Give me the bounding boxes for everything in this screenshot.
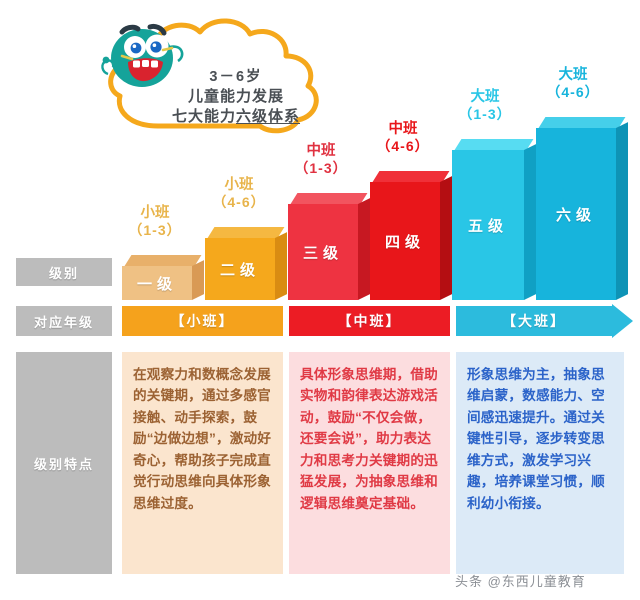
bar-level-5: 五级 [452, 150, 524, 300]
bar-level-2-grade: 小班 [196, 177, 282, 194]
bar-level-6-range: （4-6） [530, 84, 616, 101]
bar-level-1-grade: 小班 [112, 205, 198, 222]
bar-level-4-top-label: 中班 （4-6） [360, 121, 446, 155]
panel-daban-text: 形象思维为主，抽象思维启蒙，数感能力、空间感迅速提升。通过关键性引导，逐步转变思… [467, 364, 615, 514]
bar-level-2-range: （4-6） [196, 194, 282, 211]
bar-level-2-top-label: 小班 （4-6） [196, 177, 282, 211]
bar-level-1-range: （1-3） [112, 222, 198, 239]
bar-level-5-label: 五级 [468, 215, 508, 236]
row-label-level: 级别 [16, 258, 112, 286]
bar-level-3-top-label: 中班 （1-3） [278, 143, 364, 177]
bar-side-face [192, 260, 204, 300]
bar-side-face [358, 198, 370, 300]
bar-level-3-grade: 中班 [278, 143, 364, 160]
bar-front-face: 二级 [205, 238, 275, 300]
bar-level-1: 一级 [122, 266, 192, 300]
bar-level-1-top-label: 小班 （1-3） [112, 205, 198, 239]
bar-front-face: 一级 [122, 266, 192, 300]
row-label-features: 级别特点 [16, 352, 112, 574]
bar-level-4: 四级 [370, 182, 440, 300]
bar-front-face: 五级 [452, 150, 524, 300]
row-label-level-text: 级别 [49, 263, 79, 282]
cloud-title-text: 3－6岁 儿童能力发展 七大能力六级体系 [136, 68, 336, 127]
bar-side-face [616, 122, 628, 300]
bar-side-face [524, 144, 536, 300]
bar-front-face: 四级 [370, 182, 440, 300]
bar-level-1-label: 一级 [137, 273, 177, 294]
panel-zhongban-text: 具体形象思维期，借助实物和韵律表达游戏活动，鼓励“不仅会做，还要会说”，助力表达… [300, 364, 441, 514]
bar-level-6-grade: 大班 [530, 67, 616, 84]
bar-level-5-grade: 大班 [442, 89, 528, 106]
bar-level-4-range: （4-6） [360, 138, 446, 155]
bar-front-face: 三级 [288, 204, 358, 300]
band-zhongban-label: 【中班】 [338, 311, 402, 331]
band-arrow-right-icon [612, 304, 634, 338]
infographic-root: 3－6岁 儿童能力发展 七大能力六级体系 一级 小班 （1-3） 二级 [0, 0, 640, 600]
band-daban-label: 【大班】 [502, 311, 566, 331]
row-label-grade-text: 对应年级 [34, 312, 94, 331]
bar-level-6-label: 六级 [556, 204, 596, 225]
bar-top-face [208, 227, 285, 238]
bar-level-5-range: （1-3） [442, 106, 528, 123]
bar-top-face [455, 139, 534, 150]
bar-level-4-label: 四级 [385, 231, 425, 252]
panel-xiaoban: 在观察力和数概念发展的关键期，通过多感官接触、动手探索，鼓励“边做边想”，激动好… [122, 352, 283, 574]
band-zhongban: 【中班】 [289, 306, 450, 336]
bar-level-3-range: （1-3） [278, 160, 364, 177]
bar-level-6-top-label: 大班 （4-6） [530, 67, 616, 101]
cloud-title-line-1: 3－6岁 [136, 68, 336, 87]
bar-top-face [373, 171, 450, 182]
bar-side-face [275, 232, 287, 300]
bar-top-face [125, 255, 202, 266]
watermark: 头条 @东西儿童教育 [455, 571, 586, 590]
band-xiaoban-label: 【小班】 [171, 311, 235, 331]
bar-level-3: 三级 [288, 204, 358, 300]
row-label-grade: 对应年级 [16, 306, 112, 336]
panel-daban: 形象思维为主，抽象思维启蒙，数感能力、空间感迅速提升。通过关键性引导，逐步转变思… [456, 352, 624, 574]
bar-level-6: 六级 [536, 128, 616, 300]
bar-top-face [291, 193, 368, 204]
bar-front-face: 六级 [536, 128, 616, 300]
cloud-title-line-2: 儿童能力发展 [136, 87, 336, 107]
bar-level-2: 二级 [205, 238, 275, 300]
bar-level-4-grade: 中班 [360, 121, 446, 138]
panel-xiaoban-text: 在观察力和数概念发展的关键期，通过多感官接触、动手探索，鼓励“边做边想”，激动好… [133, 364, 274, 514]
bar-side-face [440, 176, 452, 300]
row-label-features-text: 级别特点 [34, 454, 94, 473]
band-xiaoban: 【小班】 [122, 306, 283, 336]
bar-level-5-top-label: 大班 （1-3） [442, 89, 528, 123]
bar-top-face [539, 117, 626, 128]
bar-level-3-label: 三级 [303, 242, 343, 263]
panel-zhongban: 具体形象思维期，借助实物和韵律表达游戏活动，鼓励“不仅会做，还要会说”，助力表达… [289, 352, 450, 574]
bar-level-2-label: 二级 [220, 259, 260, 280]
band-daban: 【大班】 [456, 306, 612, 336]
